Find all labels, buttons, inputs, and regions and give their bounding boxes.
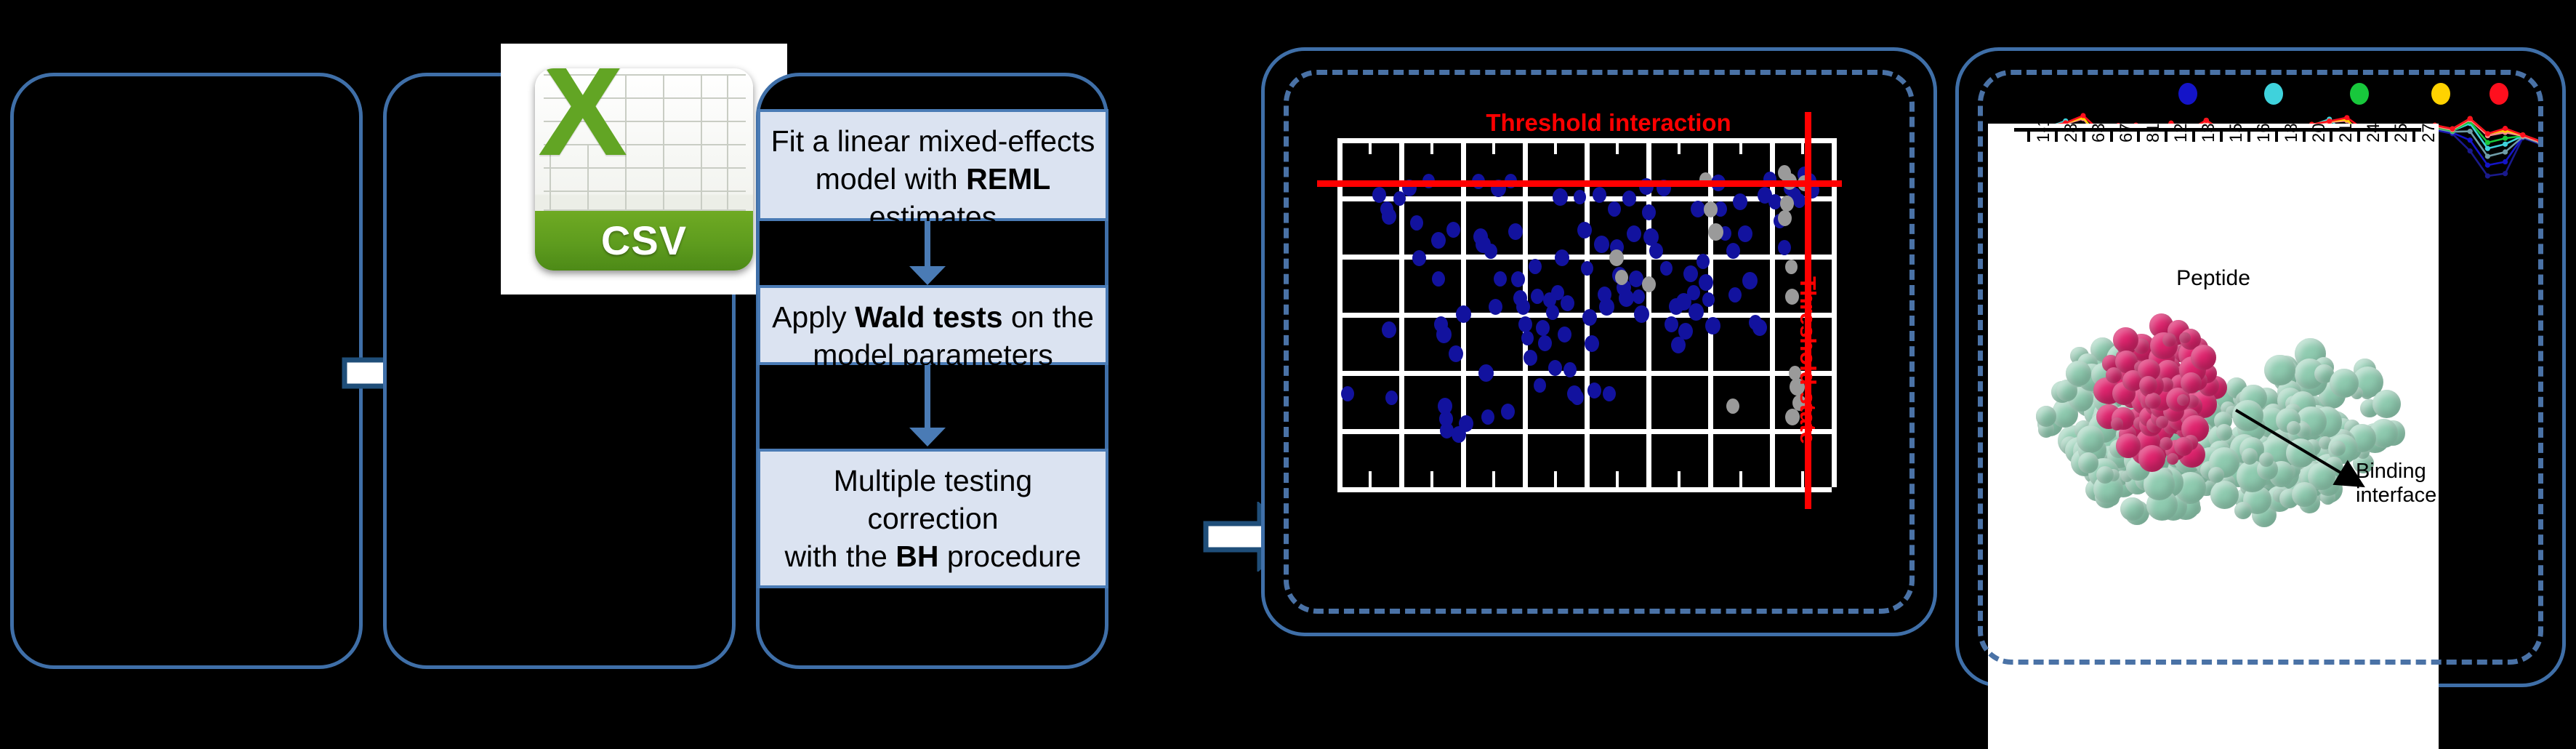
scatter-point [1582,309,1597,326]
peptide-surface-blob [2106,367,2122,383]
axis-tick [1708,471,1711,487]
scatter-point [1705,317,1720,335]
scatter-point [1599,298,1614,316]
peptide-chart-legend [1981,83,2555,108]
method-step-wald: Apply Wald tests on the model parameters [757,285,1108,365]
axis-tick [2220,132,2223,142]
threshold-interaction-line [1317,180,1842,187]
scatter-point [1708,223,1723,241]
scatter-point [1702,292,1715,307]
axis-tick-label: 135-144 [2199,124,2219,143]
axis-tick [1461,471,1464,487]
axis-tick-label: 158-166 [2226,124,2247,143]
axis-tick [1554,138,1557,154]
scatter-point [1608,201,1621,217]
axis-tick [2247,132,2250,142]
scatter-point [1778,210,1792,226]
axis-tick [1523,138,1526,154]
protein-surface-blob [2036,406,2056,426]
series-marker [2204,118,2209,123]
scatter-point [1726,243,1740,259]
peptide-surface-blob [2111,417,2123,430]
scatter-point [1609,249,1624,266]
scatter-point [1432,271,1445,287]
peptide-surface-blob [2145,393,2161,409]
scatter-point [1481,409,1494,425]
axis-tick [1430,471,1433,487]
axis-tick-label: 184-199 [2282,124,2302,143]
step-1-text-post: estimates [869,200,997,233]
scatter-point [1581,261,1593,276]
axis-tick [1585,471,1587,487]
peptide-surface-blob [2138,445,2165,472]
scatter-point [1508,223,1523,240]
axis-tick-label: 63-73 [2089,124,2109,143]
scatter-point [1446,222,1460,238]
axis-tick [1646,138,1649,154]
csv-format-label: CSV [601,217,687,264]
scatter-point [1410,215,1423,231]
step-2-text-bold: Wald tests [855,300,1003,334]
scatter-point [1768,194,1782,209]
input-panel [10,73,363,669]
scatter-point [1687,285,1700,300]
scatter-point [1752,319,1767,336]
scatter-point [1494,271,1507,287]
peptide-surface-blob [2191,345,2216,370]
axis-tick-label: 277-284 [2419,124,2439,143]
protein-surface-blob [2208,467,2224,483]
axis-tick [2137,132,2140,142]
gridline-v [1832,138,1837,487]
protein-surface-blob [2077,425,2104,453]
series-marker [2485,131,2490,136]
axis-tick [1832,471,1835,487]
protein-surface-blob [2264,355,2295,385]
axis-tick [2082,132,2085,142]
step-3-text-post: procedure [938,540,1081,573]
scatter-point [1341,386,1354,401]
scatter-point [1642,276,1656,292]
scatter-point [1728,287,1742,303]
axis-tick [2027,132,2030,142]
axis-tick [2055,132,2058,142]
axis-tick-label: 67-75 [2117,124,2137,143]
axis-tick [1369,138,1372,154]
scatter-point [1546,305,1559,320]
axis-tick [1554,471,1557,487]
scatter-point [1678,323,1693,340]
scatter-point [1456,305,1471,323]
series-marker [2537,139,2543,144]
axis-tick-label: 200-214 [2309,124,2330,143]
method-connector-1 [925,221,930,269]
peptide-panel: 1-1528-4463-7367-7581-101122-129135-1441… [1955,47,2566,687]
scatter-point [1489,299,1502,315]
scatter-point [1726,398,1739,414]
scatter-point [1548,360,1562,376]
step-2-text-pre: Apply [772,300,855,334]
scatter-point [1382,208,1396,225]
gridline-v [1337,138,1343,487]
scatter-point [1524,350,1537,366]
scatter-point [1561,295,1574,311]
axis-tick [1492,138,1495,154]
scatter-point [1634,305,1649,323]
scatter-point [1459,415,1473,432]
scatter-point [1619,289,1634,307]
axis-tick-label: 1-15 [2034,124,2054,143]
scatter-point [1780,196,1794,212]
scatter-point [1518,316,1532,332]
protein-surface-blob [2372,390,2401,418]
axis-tick [1646,471,1649,487]
legend-dot [2178,83,2197,105]
peptide-surface-blob [2179,332,2190,343]
step-1-text-bold: REML [966,162,1050,196]
protein-surface-blob [2078,452,2099,473]
scatter-point [1534,378,1546,393]
axis-tick [2330,132,2333,142]
axis-tick-label: 81-101 [2144,124,2164,143]
series-marker [2485,140,2490,145]
axis-tick [1739,138,1742,154]
scatter-point [1660,261,1673,276]
axis-tick-label: 122-129 [2171,124,2191,143]
series-marker [2485,173,2490,178]
axis-tick [1523,471,1526,487]
scatter-point [1571,390,1584,405]
axis-tick [2385,132,2388,142]
scatter-point [1738,225,1752,242]
axis-tick [1399,138,1402,154]
scatter-point [1642,204,1656,220]
peptide-surface-blob [2160,437,2173,450]
axis-tick [1801,138,1804,154]
protein-structure-render: Binding interface [2014,298,2421,538]
scatter-point [1585,335,1599,352]
peptide-axis-title: Peptide [1988,266,2439,291]
scatter-point [1516,299,1530,315]
series-marker [2485,146,2490,151]
scatter-point [1521,331,1534,345]
scatter-point [1536,320,1550,336]
axis-tick-label: 258-266 [2391,124,2412,143]
scatter-point [1633,289,1645,304]
scatter-point [1594,236,1609,253]
axis-tick [1492,471,1495,487]
series-marker [2080,113,2085,118]
axis-tick [1337,138,1340,154]
series-marker [2503,149,2508,154]
axis-tick [1770,138,1773,154]
scatter-point [1478,364,1494,382]
axis-tick-label: 218-237 [2336,124,2356,143]
scatter-point [1574,190,1586,204]
scatter-point [1385,390,1398,405]
axis-tick-label: 28-44 [2061,124,2082,143]
scatter-panel: Threshold interaction Threshold state [1261,47,1937,636]
scatter-point [1558,327,1571,343]
axis-tick [1801,471,1804,487]
series-marker [2468,116,2473,121]
scatter-point [1431,232,1446,249]
scatter-point [1704,201,1718,217]
scatter-point [1577,222,1592,239]
threshold-interaction-title: Threshold interaction [1317,109,1900,137]
binding-interface-arrow-icon [2232,406,2370,492]
axis-tick [1678,138,1681,154]
scatter-plot-area [1337,138,1832,487]
axis-tick [1399,471,1402,487]
method-step-bh: Multiple testing correction with the BH … [757,449,1108,588]
axis-tick [1369,471,1372,487]
scatter-point [1627,225,1641,242]
series-marker [2503,142,2508,147]
axis-tick [1461,138,1464,154]
scatter-point [1689,303,1704,321]
threshold-state-title: Threshold state [1795,276,1821,444]
scatter-point [1742,272,1758,289]
csv-card: X CSV [501,44,787,295]
scatter-point [1665,316,1678,332]
peptide-surface-blob [2167,453,2178,465]
method-step-reml: Fit a linear mixed-effects model with RE… [757,109,1108,221]
csv-panel: X CSV [383,73,736,669]
peptide-surface-blob [2156,416,2168,428]
axis-tick [1616,138,1619,154]
axis-tick [1337,471,1340,487]
scatter-point [1603,386,1616,401]
method-connector-2 [925,365,930,430]
scatter-point [1778,240,1791,255]
scatter-point [1538,335,1552,351]
scatter-point [1484,244,1497,259]
axis-tick-label: 167-180 [2254,124,2274,143]
axis-tick [2275,132,2278,142]
scatter-point [1593,187,1606,203]
scatter-point [1785,260,1798,274]
csv-format-band: CSV [535,211,753,271]
legend-dot [2264,83,2283,105]
axis-tick [2110,132,2113,142]
peptide-surface-blob [2181,372,2202,393]
scatter-point [1587,382,1601,398]
axis-tick [1832,138,1835,154]
series-marker [2503,126,2508,131]
scatter-point [1733,193,1747,210]
axis-tick [1616,471,1619,487]
legend-dot [2490,83,2508,105]
protein-surface-blob [2234,502,2253,520]
protein-surface-blob [2096,466,2114,484]
scatter-point [1412,250,1426,266]
peptide-surface-blob [2162,333,2176,347]
method-connector-1-arrowhead [909,266,946,285]
series-marker [2503,136,2508,141]
series-marker [2468,148,2473,153]
method-panel: Fit a linear mixed-effects model with RE… [756,73,1108,669]
scatter-point [1699,274,1713,291]
axis-tick [2192,132,2195,142]
axis-tick [1708,138,1711,154]
series-marker [2520,132,2525,137]
axis-tick [1585,138,1587,154]
method-connector-2-arrowhead [909,428,946,446]
scatter-point [1529,259,1542,274]
series-marker [2344,115,2349,120]
axis-tick [1430,138,1433,154]
axis-tick [2165,132,2168,142]
series-marker [2485,153,2490,159]
peptide-surface-blob [2174,437,2193,456]
axis-tick [2357,132,2360,142]
scatter-point [1501,404,1515,420]
binding-interface-label: Binding interface [2356,460,2436,508]
gridline-v [1708,138,1713,487]
series-marker [2468,137,2473,143]
series-marker [2503,159,2508,164]
axis-tick [2303,132,2306,142]
scatter-point [1563,362,1577,377]
excel-x-icon: X [538,68,647,172]
scatter-point [1511,271,1525,287]
scatter-point [1382,321,1396,338]
protein-surface-blob [2120,497,2144,521]
scatter-plot: Threshold interaction Threshold state [1317,95,1900,589]
peptide-structure-inset: 1-1528-4463-7367-7581-101122-129135-1441… [1988,124,2439,749]
scatter-point [1555,249,1569,266]
axis-tick [1678,471,1681,487]
scatter-point [1436,326,1452,343]
axis-tick [1739,471,1742,487]
legend-dot [2431,83,2450,105]
scatter-point [1553,188,1568,206]
protein-surface-blob [2216,424,2233,441]
series-marker [2503,171,2508,176]
step-3-text-bold: BH [895,540,938,573]
scatter-point [1615,270,1628,285]
gridline-h [1337,487,1832,492]
axis-tick [2412,132,2415,142]
scatter-point [1622,191,1636,207]
legend-dot [2350,83,2369,105]
axis-tick [1770,471,1773,487]
scatter-point [1531,289,1544,304]
series-marker [2468,129,2473,134]
axis-tick-label: 241-257 [2364,124,2384,143]
series-marker [2485,163,2490,168]
scatter-point [1683,265,1698,282]
protein-surface-blob [2066,361,2091,386]
csv-file-icon: X CSV [535,68,753,271]
series-marker [2450,127,2455,132]
